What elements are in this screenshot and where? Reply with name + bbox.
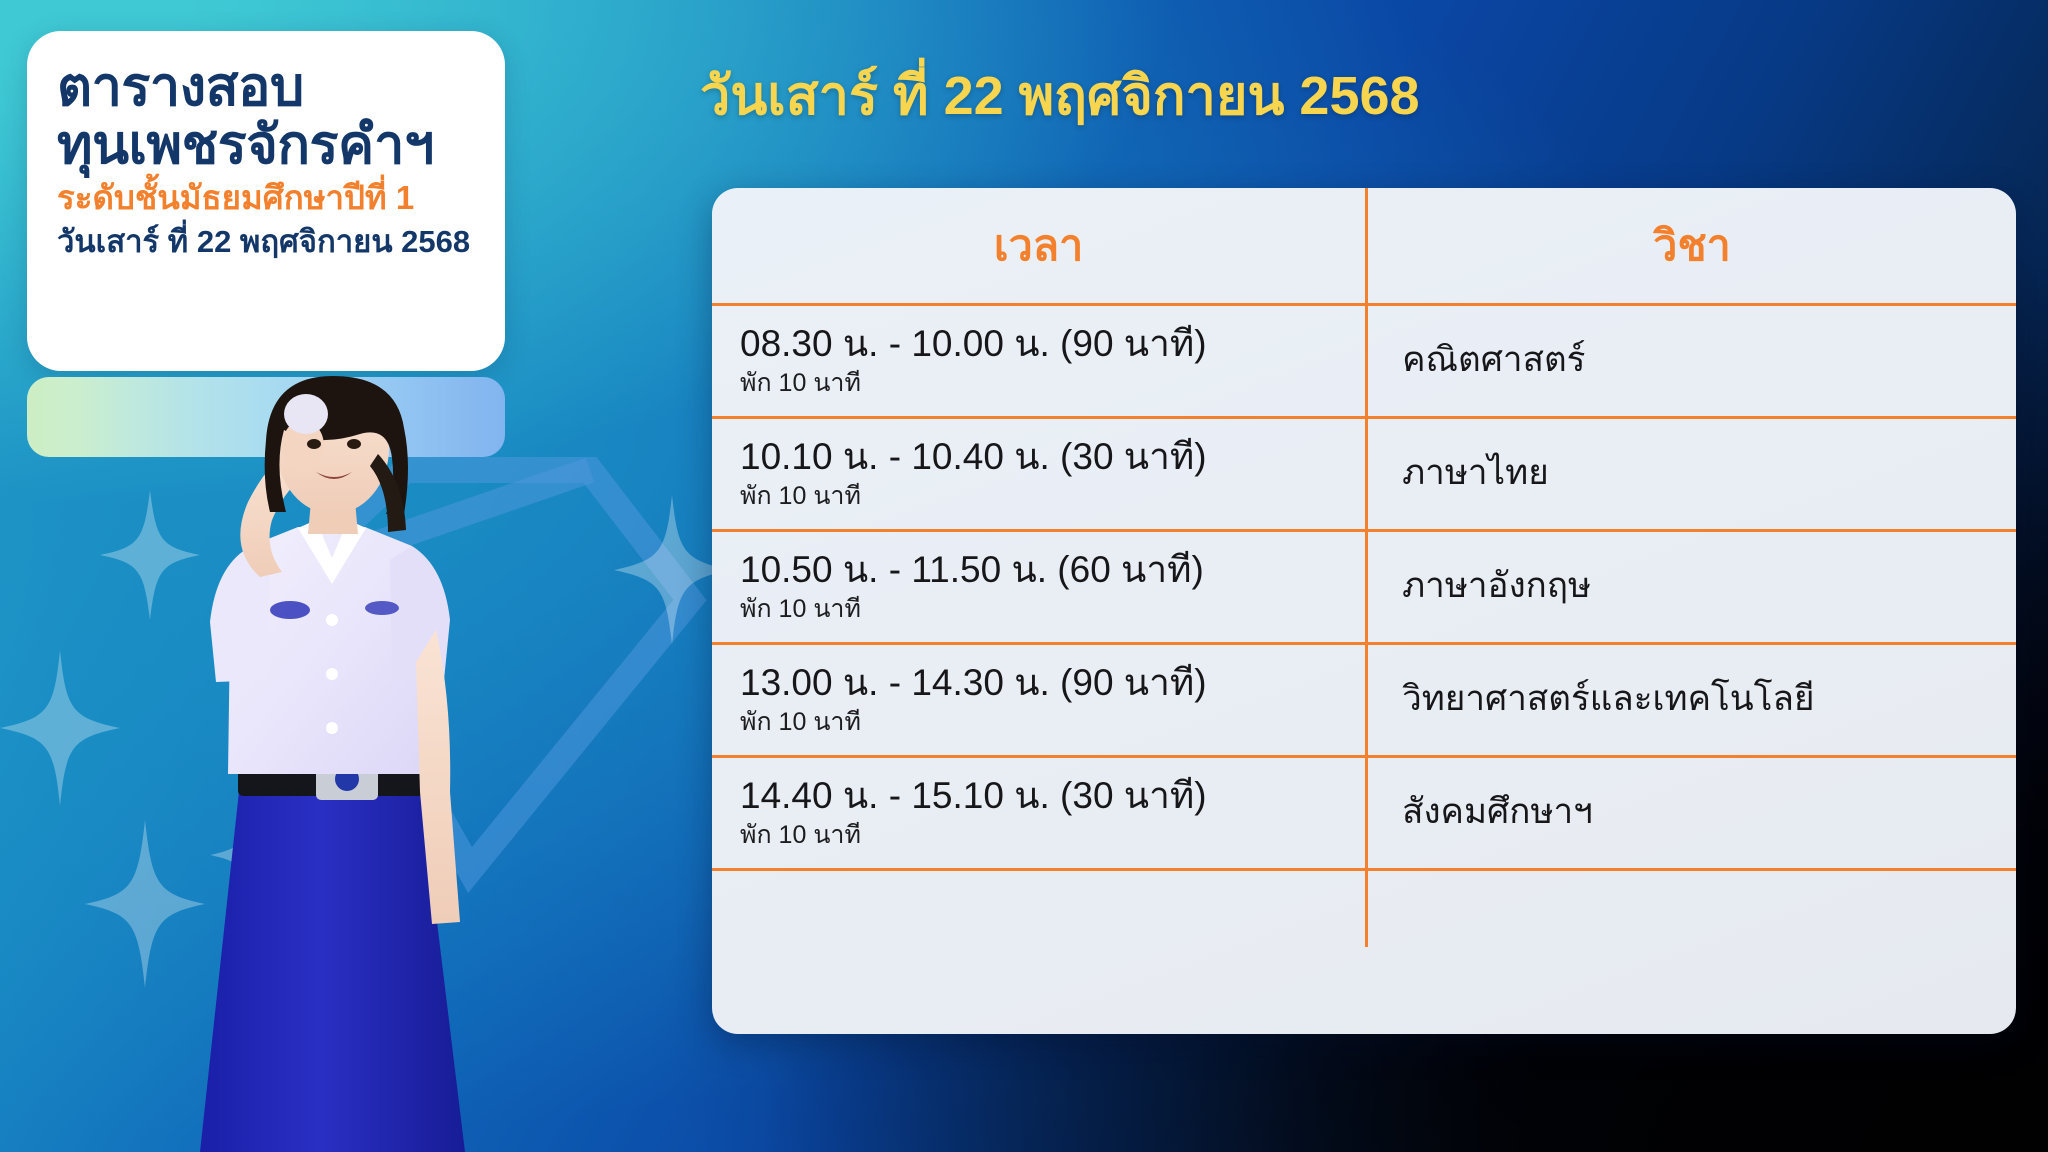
table-row: 08.30 น. - 10.00 น. (90 นาที) พัก 10 นาท… <box>712 304 2016 417</box>
column-header-time: เวลา <box>712 188 1367 304</box>
subject-name: ภาษาอังกฤษ <box>1402 566 2016 606</box>
break-note: พัก 10 นาที <box>740 368 1365 398</box>
time-cell: 10.50 น. - 11.50 น. (60 นาที) พัก 10 นาท… <box>712 530 1367 643</box>
table-head: เวลา วิชา <box>712 188 2016 304</box>
subject-name: วิทยาศาสตร์และเทคโนโลยี <box>1402 679 2016 719</box>
break-note: พัก 10 นาที <box>740 707 1365 737</box>
time-cell: 08.30 น. - 10.00 น. (90 นาที) พัก 10 นาท… <box>712 304 1367 417</box>
time-cell: 14.40 น. - 15.10 น. (30 นาที) พัก 10 นาท… <box>712 756 1367 869</box>
subject-cell: ภาษาอังกฤษ <box>1367 530 2016 643</box>
schedule-date-heading: วันเสาร์ ที่ 22 พฤศจิกายน 2568 <box>700 52 1420 138</box>
break-note: พัก 10 นาที <box>740 594 1365 624</box>
table-row: 13.00 น. - 14.30 น. (90 นาที) พัก 10 นาท… <box>712 643 2016 756</box>
spacer-cell-right <box>1367 947 2016 995</box>
time-range: 10.10 น. - 10.40 น. (30 นาที) <box>740 436 1365 477</box>
spacer-cell-left <box>712 947 1367 995</box>
table-row: 14.40 น. - 15.10 น. (30 นาที) พัก 10 นาท… <box>712 756 2016 869</box>
table-row: 10.10 น. - 10.40 น. (30 นาที) พัก 10 นาท… <box>712 417 2016 530</box>
subject-name: คณิตศาสตร์ <box>1402 340 2016 380</box>
footer-time-cell <box>712 869 1367 947</box>
table-footer-row <box>712 869 2016 947</box>
schedule-table: เวลา วิชา 08.30 น. - 10.00 น. (90 นาที) … <box>712 188 2016 995</box>
table-bottom-spacer <box>712 947 2016 995</box>
break-note: พัก 10 นาที <box>740 820 1365 850</box>
subject-name: สังคมศึกษาฯ <box>1402 792 2016 832</box>
break-note: พัก 10 นาที <box>740 481 1365 511</box>
table-row: 10.50 น. - 11.50 น. (60 นาที) พัก 10 นาท… <box>712 530 2016 643</box>
subject-cell: คณิตศาสตร์ <box>1367 304 2016 417</box>
time-cell: 13.00 น. - 14.30 น. (90 นาที) พัก 10 นาท… <box>712 643 1367 756</box>
subject-cell: วิทยาศาสตร์และเทคโนโลยี <box>1367 643 2016 756</box>
table-header-row: เวลา วิชา <box>712 188 2016 304</box>
footer-subject-cell <box>1367 869 2016 947</box>
subject-name: ภาษาไทย <box>1402 453 2016 493</box>
time-range: 14.40 น. - 15.10 น. (30 นาที) <box>740 775 1365 816</box>
subject-cell: สังคมศึกษาฯ <box>1367 756 2016 869</box>
column-header-subject: วิชา <box>1367 188 2016 304</box>
time-range: 10.50 น. - 11.50 น. (60 นาที) <box>740 549 1365 590</box>
schedule-table-card: เวลา วิชา 08.30 น. - 10.00 น. (90 นาที) … <box>712 188 2016 1034</box>
table-body: 08.30 น. - 10.00 น. (90 นาที) พัก 10 นาท… <box>712 304 2016 995</box>
subject-cell: ภาษาไทย <box>1367 417 2016 530</box>
time-range: 08.30 น. - 10.00 น. (90 นาที) <box>740 323 1365 364</box>
time-cell: 10.10 น. - 10.40 น. (30 นาที) พัก 10 นาท… <box>712 417 1367 530</box>
poster-canvas: ตารางสอบ ทุนเพชรจักรคำฯ ระดับชั้นมัธยมศึ… <box>0 0 2048 1152</box>
time-range: 13.00 น. - 14.30 น. (90 นาที) <box>740 662 1365 703</box>
